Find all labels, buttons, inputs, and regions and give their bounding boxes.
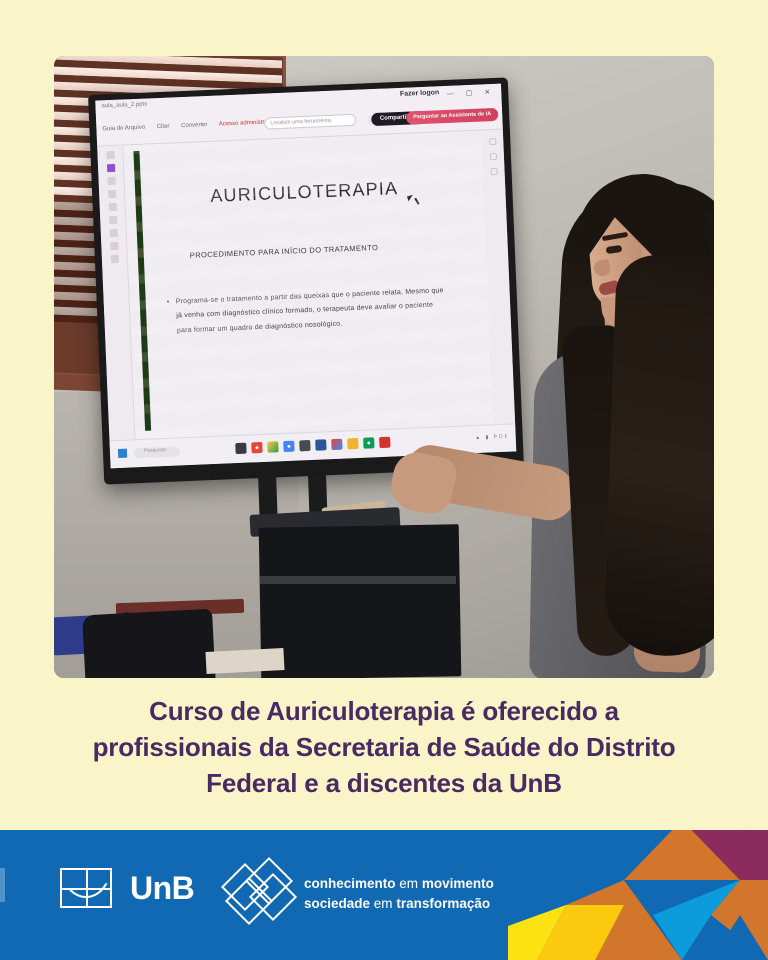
title-line-2: profissionais da Secretaria de Saúde do … (40, 730, 728, 766)
tagline-line-2: sociedade em transformação (304, 894, 494, 914)
page-title: Curso de Auriculoterapia é oferecido a p… (40, 694, 728, 802)
tagline-text: conhecimento em movimento sociedade em t… (304, 874, 494, 913)
article-photo: aula_aula_2.pptx Fazer logon — ▢ ✕ Guia … (54, 56, 714, 678)
tagline-1-b: em (399, 876, 418, 891)
tagline-2-a: sociedade (304, 896, 370, 911)
unb-wordmark: UnB (130, 870, 194, 907)
decorative-triangles (508, 830, 768, 960)
tagline-1-a: conhecimento (304, 876, 396, 891)
unb-logo-icon (60, 868, 112, 908)
tri-orange-small (566, 880, 624, 905)
photo-scene: aula_aula_2.pptx Fazer logon — ▢ ✕ Guia … (54, 56, 714, 678)
infinity-hex-icon (228, 870, 292, 918)
tagline-2-c: transformação (396, 896, 490, 911)
tagline-1-c: movimento (422, 876, 494, 891)
pointing-hand (387, 448, 460, 518)
title-line-1: Curso de Auriculoterapia é oferecido a (40, 694, 728, 730)
presenter (54, 56, 714, 678)
hair-long (603, 254, 714, 658)
tagline-line-1: conhecimento em movimento (304, 874, 494, 894)
triangle-pattern-svg (508, 830, 768, 960)
title-line-3: Federal e a discentes da UnB (40, 766, 728, 802)
tagline-block: conhecimento em movimento sociedade em t… (228, 870, 494, 918)
unb-brand: UnB (60, 868, 194, 908)
footer-left-accent (0, 868, 5, 902)
footer-bar: UnB conhecimento em movimento sociedade … (0, 830, 768, 960)
unb-logo-curve (61, 868, 111, 898)
tagline-2-b: em (374, 896, 393, 911)
